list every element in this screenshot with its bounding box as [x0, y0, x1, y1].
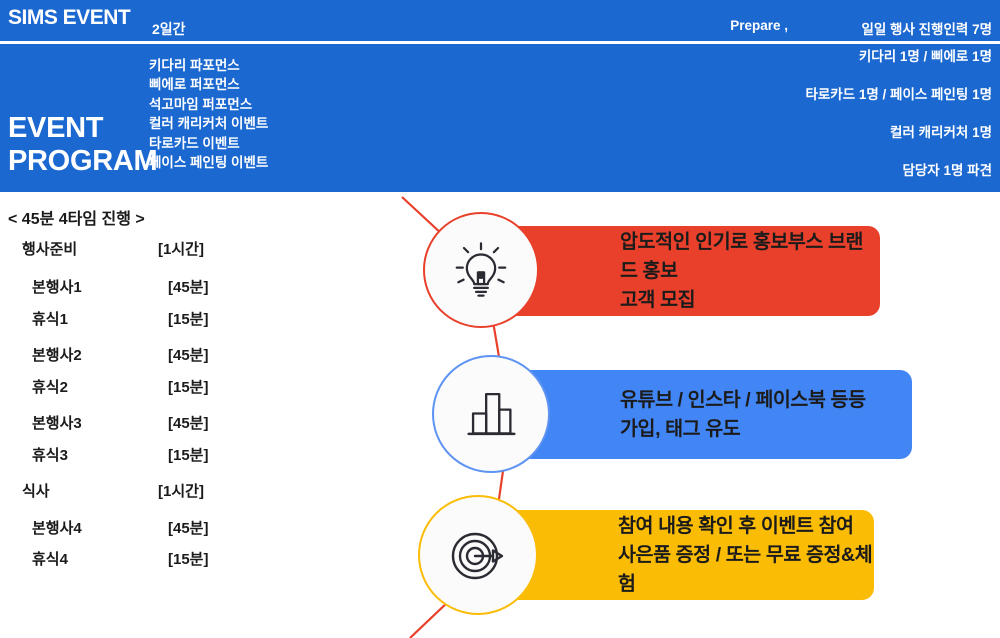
schedule-row-duration: [15분] [168, 548, 208, 569]
schedule-row: 본행사4[45분] [32, 517, 262, 539]
header-banner: SIMS EVENT 2일간 Prepare , 일일 행사 진행인력 7명 E… [0, 0, 1000, 192]
flow-icon-circle-1 [423, 212, 539, 328]
schedule-row: 본행사1[45분] [32, 276, 262, 298]
flow-card-2[interactable]: 유튜브 / 인스타 / 페이스북 등등 가입, 태그 유도 [510, 370, 912, 459]
program-item-list: 키다리 파포먼스 삐에로 퍼포먼스 석고마임 퍼포먼스 컬러 캐리커처 이벤트 … [149, 56, 268, 172]
schedule-row: 휴식3[15분] [32, 444, 262, 466]
schedule-row-duration: [45분] [168, 412, 208, 433]
schedule-row: 휴식1[15분] [32, 308, 262, 330]
staff-item: 타로카드 1명 / 페이스 페인팅 1명 [805, 76, 992, 114]
schedule-row-duration: [15분] [168, 376, 208, 397]
schedule-row-label: 본행사4 [32, 517, 82, 538]
flow-icon-circle-2 [432, 355, 550, 473]
schedule-row: 본행사3[45분] [32, 412, 262, 434]
schedule-row-duration: [1시간] [158, 238, 204, 259]
schedule-row: 휴식4[15분] [32, 548, 262, 570]
program-item: 페이스 페인팅 이벤트 [149, 153, 268, 172]
schedule-row-label: 식사 [22, 480, 50, 501]
schedule-row-label: 휴식3 [32, 444, 68, 465]
schedule-row-duration: [45분] [168, 344, 208, 365]
schedule-row-duration: [15분] [168, 308, 208, 329]
staff-item: 키다리 1명 / 삐에로 1명 [805, 38, 992, 76]
schedule-row-label: 본행사2 [32, 344, 82, 365]
page-title-line-2: PROGRAM [8, 145, 157, 178]
schedule-row-duration: [1시간] [158, 480, 204, 501]
program-item: 컬러 캐리커처 이벤트 [149, 114, 268, 133]
program-item: 석고마임 퍼포먼스 [149, 95, 268, 114]
schedule-row-label: 휴식1 [32, 308, 68, 329]
schedule-row: 식사[1시간] [22, 480, 252, 502]
schedule-row-label: 본행사3 [32, 412, 82, 433]
page-title: EVENT PROGRAM [8, 112, 157, 178]
staff-item: 담당자 1명 파견 [805, 152, 992, 190]
flow-card-2-text: 유튜브 / 인스타 / 페이스북 등등 가입, 태그 유도 [620, 386, 866, 444]
flow-card-3-text: 참여 내용 확인 후 이벤트 참여 사은품 증정 / 또는 무료 증정&체험 [618, 512, 874, 599]
schedule-row-label: 행사준비 [22, 238, 77, 259]
program-item: 타로카드 이벤트 [149, 134, 268, 153]
schedule-title: < 45분 4타임 진행 > [8, 205, 145, 229]
schedule-row-duration: [45분] [168, 276, 208, 297]
flow-card-1-text: 압도적인 인기로 홍보부스 브랜드 홍보 고객 모집 [620, 228, 880, 315]
flow-icon-circle-3 [418, 495, 538, 615]
schedule-row: 본행사2[45분] [32, 344, 262, 366]
slide-root: SIMS EVENT 2일간 Prepare , 일일 행사 진행인력 7명 E… [0, 0, 1000, 638]
schedule-row-duration: [45분] [168, 517, 208, 538]
lightbulb-icon [450, 239, 512, 301]
staff-item-list: 키다리 1명 / 삐에로 1명 타로카드 1명 / 페이스 페인팅 1명 컬러 … [805, 38, 992, 190]
brand-logo: SIMS EVENT [8, 6, 130, 30]
schedule-row-label: 휴식2 [32, 376, 68, 397]
schedule-row: 행사준비[1시간] [22, 238, 252, 260]
program-item: 키다리 파포먼스 [149, 56, 268, 75]
schedule-row-label: 본행사1 [32, 276, 82, 297]
schedule-row-duration: [15분] [168, 444, 208, 465]
flow-card-3[interactable]: 참여 내용 확인 후 이벤트 참여 사은품 증정 / 또는 무료 증정&체험 [500, 510, 874, 600]
flow-card-1[interactable]: 압도적인 인기로 홍보부스 브랜드 홍보 고객 모집 [505, 226, 880, 316]
bar-chart-icon [460, 383, 522, 445]
schedule-row-label: 휴식4 [32, 548, 68, 569]
prepare-label: Prepare , [730, 18, 788, 33]
schedule-row: 휴식2[15분] [32, 376, 262, 398]
target-icon [446, 523, 510, 587]
staff-item: 컬러 캐리커처 1명 [805, 114, 992, 152]
event-duration-label: 2일간 [152, 19, 186, 39]
flow-diagram: 압도적인 인기로 홍보부스 브랜드 홍보 고객 모집 [390, 192, 1000, 638]
staff-total-label: 일일 행사 진행인력 7명 [861, 18, 992, 38]
program-item: 삐에로 퍼포먼스 [149, 75, 268, 94]
page-title-line-1: EVENT [8, 112, 157, 145]
